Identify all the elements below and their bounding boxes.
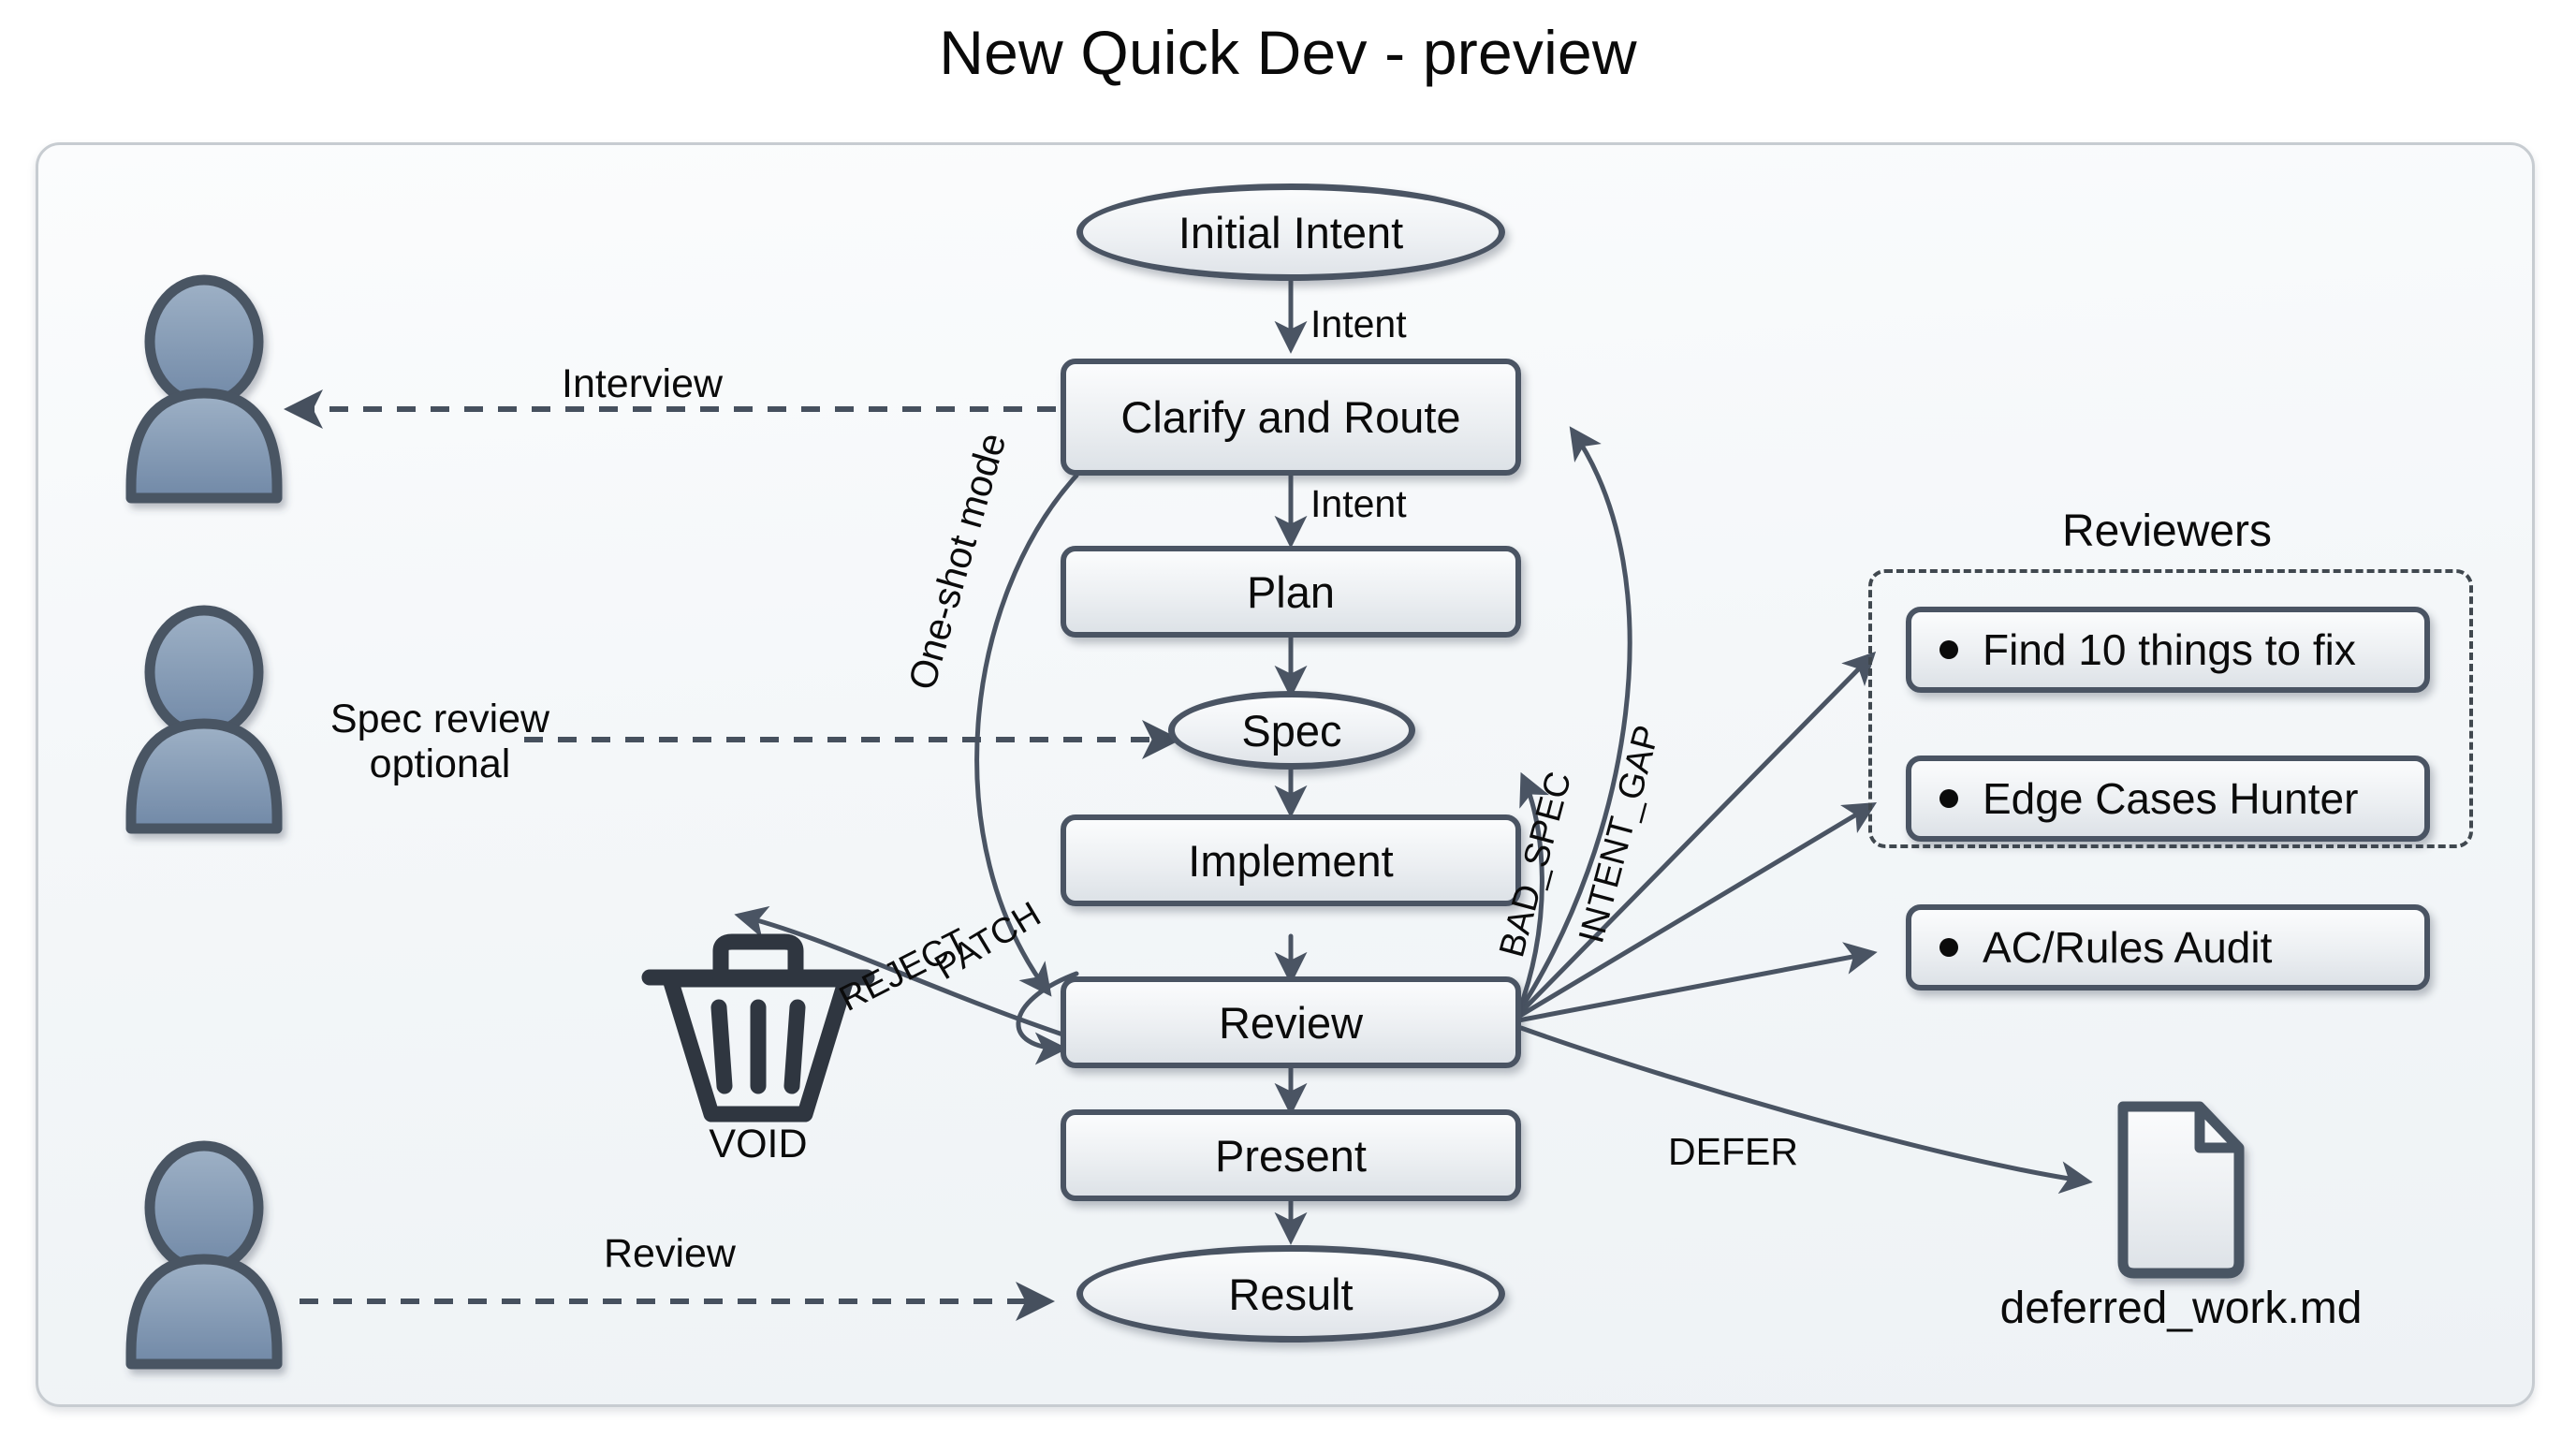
node-present[interactable]: Present — [1061, 1109, 1521, 1201]
reviewer-edge-cases-hunter[interactable]: Edge Cases Hunter — [1906, 756, 2430, 842]
node-initial-intent[interactable]: Initial Intent — [1076, 183, 1505, 281]
edge-label-intent-2: Intent — [1310, 482, 1407, 526]
document-icon — [2123, 1107, 2239, 1273]
node-label: Plan — [1247, 566, 1335, 618]
node-clarify-and-route[interactable]: Clarify and Route — [1061, 359, 1521, 476]
node-label: Spec — [1241, 705, 1341, 756]
reviewer-find-10-things-to-fix[interactable]: Find 10 things to fix — [1906, 607, 2430, 693]
deferred-file-label: deferred_work.md — [1919, 1283, 2443, 1334]
node-label: Initial Intent — [1178, 207, 1403, 258]
reviewer-ac-rules-audit[interactable]: AC/Rules Audit — [1906, 904, 2430, 990]
node-review[interactable]: Review — [1061, 976, 1521, 1068]
node-implement[interactable]: Implement — [1061, 814, 1521, 906]
spec-review-line-2: optional — [300, 741, 580, 786]
edge-label-intent-1: Intent — [1310, 302, 1407, 346]
node-label: Implement — [1188, 835, 1393, 887]
bullet-icon — [1939, 789, 1958, 808]
node-label: Review — [1219, 997, 1363, 1049]
node-plan[interactable]: Plan — [1061, 546, 1521, 638]
reviewer-label: AC/Rules Audit — [1983, 922, 2272, 973]
edge-label-defer: DEFER — [1668, 1130, 1798, 1174]
node-label: Result — [1228, 1269, 1353, 1320]
reviewers-cluster-title: Reviewers — [1868, 506, 2466, 557]
node-label: Present — [1215, 1130, 1367, 1181]
reviewer-label: Edge Cases Hunter — [1983, 773, 2358, 824]
bullet-icon — [1939, 640, 1958, 659]
node-spec[interactable]: Spec — [1168, 691, 1415, 770]
void-label: VOID — [655, 1122, 861, 1167]
diagram-canvas: New Quick Dev - preview — [0, 0, 2576, 1438]
node-label: Clarify and Route — [1120, 391, 1460, 443]
actor-icon — [131, 1146, 277, 1364]
trash-icon — [650, 942, 867, 1114]
actor-edge-label-review: Review — [604, 1231, 736, 1277]
actor-icon — [131, 610, 277, 829]
reviewer-label: Find 10 things to fix — [1983, 624, 2356, 675]
node-result[interactable]: Result — [1076, 1245, 1505, 1343]
actor-edge-label-interview: Interview — [562, 361, 723, 407]
bullet-icon — [1939, 938, 1958, 957]
actor-icon — [131, 280, 277, 498]
actor-edge-label-spec-review: Spec review optional — [300, 697, 580, 786]
spec-review-line-1: Spec review — [300, 697, 580, 741]
